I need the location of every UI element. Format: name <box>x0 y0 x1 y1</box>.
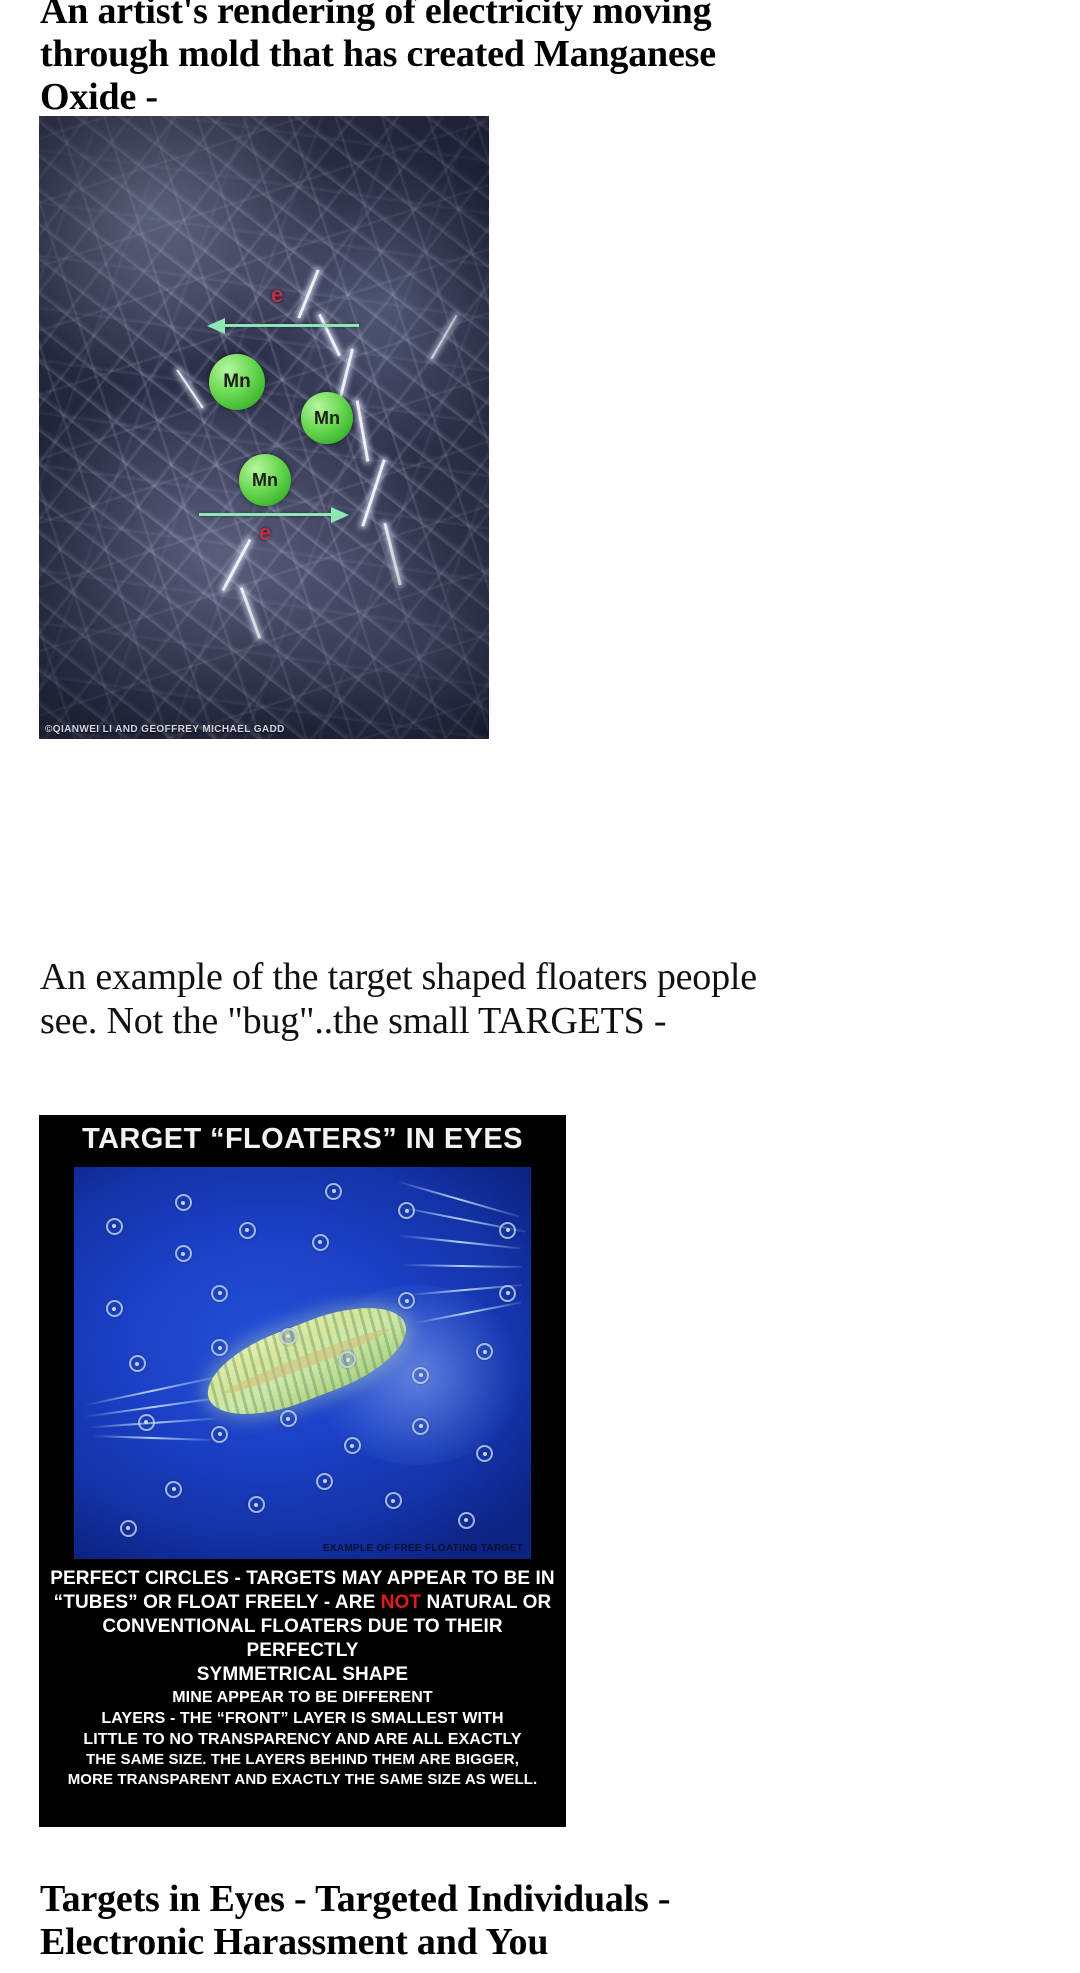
poster-body-text: PERFECT CIRCLES - TARGETS MAY APPEAR TO … <box>47 1567 558 1790</box>
poster-body-line-part: NATURAL OR <box>421 1592 551 1613</box>
poster-body-line: CONVENTIONAL FLOATERS DUE TO THEIR PERFE… <box>47 1615 558 1663</box>
poster-body-line: LITTLE TO NO TRANSPARENCY AND ARE ALL EX… <box>47 1729 558 1750</box>
image-credit-text: ©QIANWEI LI AND GEOFFREY MICHAEL GADD <box>45 724 285 735</box>
poster-body-line: PERFECT CIRCLES - TARGETS MAY APPEAR TO … <box>47 1567 558 1591</box>
electron-flow-arrow-line <box>199 513 331 516</box>
electron-flow-arrow-head-left <box>207 318 225 334</box>
not-highlight-word: NOT <box>381 1592 421 1613</box>
target-circle <box>499 1222 516 1239</box>
electron-label: e <box>259 520 271 546</box>
target-circle <box>344 1437 361 1454</box>
manganese-atom-label: Mn <box>223 371 250 393</box>
figure-mold-manganese-oxide: e e Mn Mn Mn ©QIANWEI LI AND GEOFFREY MI… <box>39 116 489 739</box>
manganese-atom: Mn <box>239 454 291 506</box>
electron-flow-arrow-head-right <box>331 507 349 523</box>
manganese-atom: Mn <box>301 392 353 444</box>
electron-flow-arrow-line <box>224 324 359 327</box>
target-circle <box>165 1481 182 1498</box>
mold-vignette <box>39 116 489 739</box>
target-circle <box>239 1222 256 1239</box>
figure-target-floaters-poster: TARGET “FLOATERS” IN EYES <box>39 1115 566 1827</box>
target-circle <box>211 1426 228 1443</box>
target-circle <box>248 1496 265 1513</box>
target-circle <box>398 1202 415 1219</box>
target-circle <box>412 1367 429 1384</box>
target-circle <box>175 1245 192 1262</box>
caption-target-floaters: An example of the target shaped floaters… <box>40 955 760 1043</box>
target-circle <box>280 1410 297 1427</box>
target-circle <box>175 1194 192 1211</box>
electron-label: e <box>271 282 283 308</box>
target-circle <box>211 1285 228 1302</box>
manganese-atom: Mn <box>209 354 265 410</box>
poster-body-line: MORE TRANSPARENT AND EXACTLY THE SAME SI… <box>47 1770 558 1790</box>
page-heading-top: An artist's rendering of electricity mov… <box>40 0 740 119</box>
target-circle <box>120 1520 137 1537</box>
organism-cilia <box>92 1435 211 1441</box>
target-circle <box>138 1414 155 1431</box>
poster-title: TARGET “FLOATERS” IN EYES <box>39 1123 566 1156</box>
photo-inset-caption: EXAMPLE OF FREE FLOATING TARGET <box>323 1543 523 1554</box>
organism-cilia <box>403 1264 522 1268</box>
poster-body-line-with-highlight: “TUBES” OR FLOAT FREELY - ARE NOT NATURA… <box>47 1591 558 1615</box>
target-circle <box>385 1492 402 1509</box>
poster-microscope-photo: EXAMPLE OF FREE FLOATING TARGET <box>74 1167 531 1559</box>
target-circle <box>129 1355 146 1372</box>
target-circle <box>316 1473 333 1490</box>
target-circle <box>412 1418 429 1435</box>
target-circle <box>312 1234 329 1251</box>
target-circle <box>106 1218 123 1235</box>
target-circle <box>211 1339 228 1356</box>
poster-body-line: SYMMETRICAL SHAPE <box>47 1663 558 1687</box>
poster-body-line: LAYERS - THE “FRONT” LAYER IS SMALLEST W… <box>47 1708 558 1729</box>
poster-body-line-part: “TUBES” OR FLOAT FREELY - ARE <box>54 1592 381 1613</box>
target-circle <box>499 1285 516 1302</box>
manganese-atom-label: Mn <box>314 408 340 429</box>
target-circle <box>325 1183 342 1200</box>
page-heading-bottom: Targets in Eyes - Targeted Individuals -… <box>40 1878 760 1964</box>
target-circle <box>106 1300 123 1317</box>
target-circle <box>476 1445 493 1462</box>
manganese-atom-label: Mn <box>252 470 278 491</box>
target-circle <box>280 1328 297 1345</box>
target-circle <box>458 1512 475 1529</box>
organism-cilia <box>84 1376 219 1406</box>
poster-body-line: MINE APPEAR TO BE DIFFERENT <box>47 1687 558 1708</box>
poster-body-line: THE SAME SIZE. THE LAYERS BEHIND THEM AR… <box>47 1750 558 1770</box>
